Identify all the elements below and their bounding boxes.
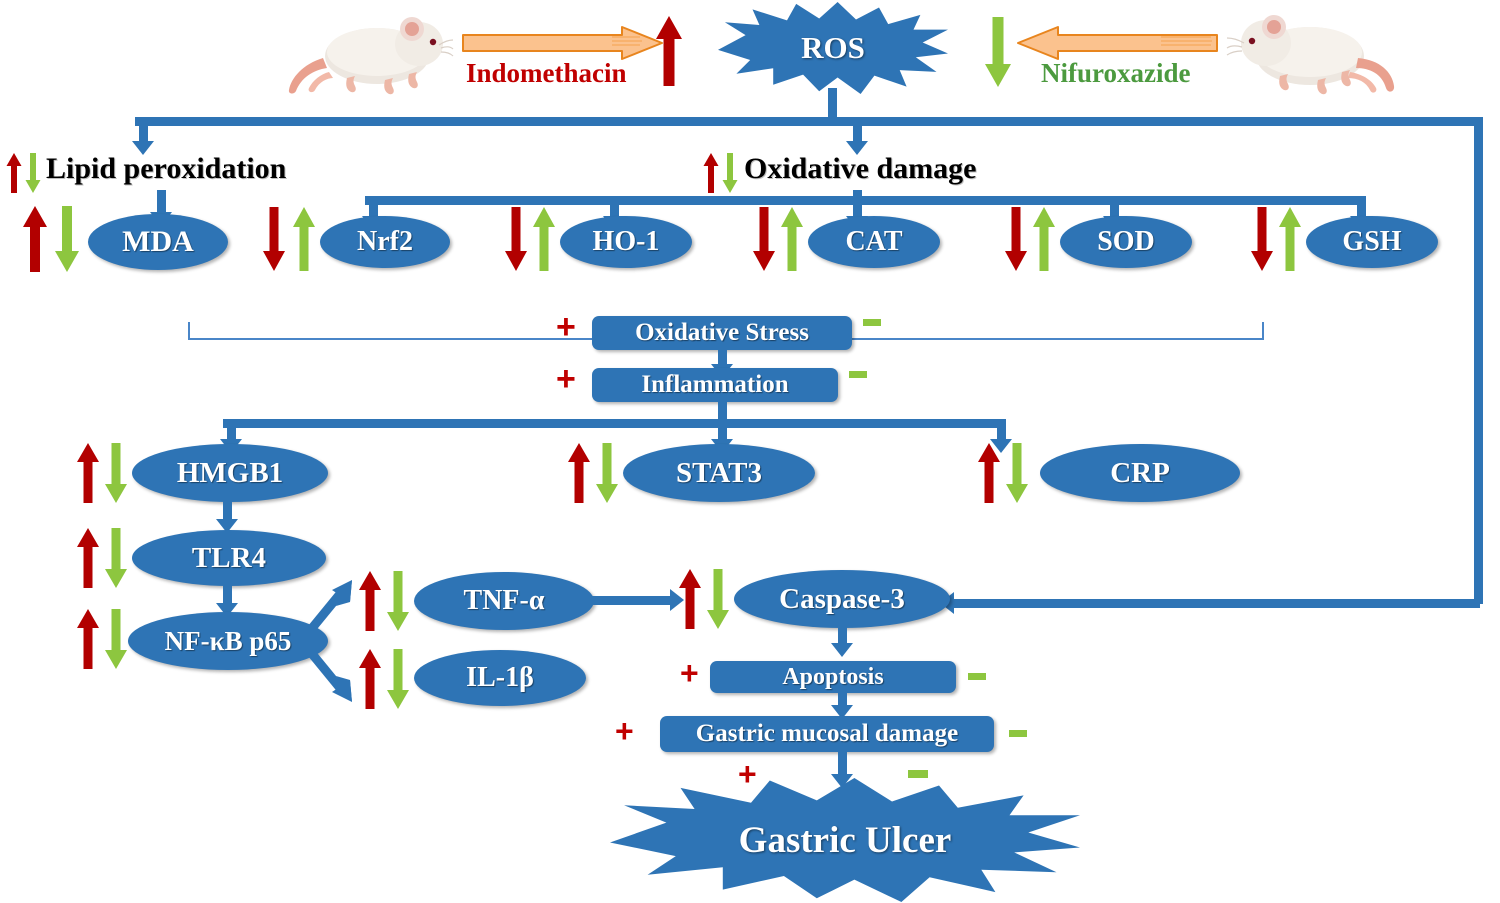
- node-tnf-alpha-label: TNF-α: [464, 585, 545, 617]
- up-arrow-red-tlr4: [76, 527, 100, 589]
- connector-tlr4-to-nfkb: [223, 583, 232, 605]
- connector-drop-cat: [853, 196, 862, 218]
- node-gsh-label: GSH: [1342, 226, 1401, 258]
- node-stat3-label: STAT3: [676, 457, 762, 490]
- indomethacin-label: Indomethacin: [466, 58, 627, 89]
- node-tlr4-label: TLR4: [192, 542, 266, 575]
- node-oxidative-stress: Oxidative Stress: [592, 316, 852, 350]
- connector-nfkb-to-tnfa: [300, 572, 360, 642]
- up-arrow-green-sod: [1032, 206, 1056, 272]
- connector-drop-nrf2: [369, 196, 378, 218]
- down-arrow-green-nifuroxazide: [984, 16, 1012, 88]
- down-arrow-green-crp: [1005, 442, 1029, 504]
- up-arrow-green-ho1: [532, 206, 556, 272]
- connector-drop-hmgb1: [227, 419, 236, 441]
- connector-drop-crp: [997, 419, 1006, 441]
- node-mda: MDA: [88, 214, 228, 270]
- mouse-icon-left: [285, 12, 455, 97]
- down-arrow-green-lipid: [25, 152, 41, 194]
- nifuroxazide-arrow-icon: [1016, 26, 1218, 60]
- connector-drop-gsh: [1357, 196, 1366, 218]
- up-arrow-green-gsh: [1278, 206, 1302, 272]
- down-arrow-red-sod: [1004, 206, 1028, 272]
- node-caspase-3: Caspase-3: [734, 570, 950, 628]
- plus-oxidative-stress: +: [556, 310, 576, 344]
- up-arrow-red-caspase3: [678, 568, 702, 630]
- connector-mediator-bus: [223, 419, 1006, 428]
- node-stat3: STAT3: [623, 444, 815, 502]
- node-cat: CAT: [808, 216, 940, 268]
- connector-hmgb1-to-tlr4: [223, 495, 232, 521]
- minus-apoptosis: [968, 673, 986, 680]
- connector-drop-oxdamage: [853, 117, 862, 143]
- up-arrow-red-stat3: [567, 442, 591, 504]
- node-apoptosis: Apoptosis: [710, 661, 956, 693]
- up-arrow-red-lipid: [6, 152, 22, 194]
- node-inflammation-label: Inflammation: [641, 371, 788, 399]
- down-arrow-green-tnfa: [386, 570, 410, 632]
- node-ros: ROS: [718, 2, 948, 94]
- plus-gastric-ulcer: +: [738, 758, 757, 790]
- node-nrf2: Nrf2: [320, 216, 450, 268]
- node-sod-label: SOD: [1097, 226, 1155, 258]
- nifuroxazide-label: Nifuroxazide: [1041, 58, 1191, 89]
- node-gastric-mucosal-damage-label: Gastric mucosal damage: [696, 720, 958, 748]
- connector-right-riser: [1474, 117, 1483, 604]
- node-mda-label: MDA: [122, 225, 194, 259]
- up-arrow-red-nfkb: [76, 608, 100, 670]
- arrowhead-apoptosis: [831, 643, 853, 657]
- up-arrow-red-il1b: [358, 648, 382, 710]
- connector-lipid-to-mda: [157, 190, 166, 214]
- node-nrf2-label: Nrf2: [357, 226, 413, 258]
- up-arrow-red-mda: [22, 205, 48, 273]
- node-oxidative-stress-label: Oxidative Stress: [635, 319, 809, 347]
- down-arrow-green-tlr4: [104, 527, 128, 589]
- indomethacin-arrow-icon: [462, 26, 664, 60]
- connector-mucosal-to-ulcer: [838, 752, 847, 776]
- down-arrow-green-hmgb1: [104, 442, 128, 504]
- down-arrow-green-caspase3: [706, 568, 730, 630]
- node-gastric-mucosal-damage: Gastric mucosal damage: [660, 716, 994, 752]
- up-arrow-red-indomethacin: [655, 15, 683, 87]
- label-lipid-peroxidation: Lipid peroxidation: [46, 152, 286, 186]
- node-caspase-3-label: Caspase-3: [779, 583, 905, 616]
- node-gastric-ulcer-label: Gastric Ulcer: [739, 819, 952, 862]
- node-apoptosis-label: Apoptosis: [782, 664, 883, 691]
- minus-oxidative-stress: [863, 319, 881, 326]
- label-oxidative-damage: Oxidative damage: [744, 152, 977, 186]
- node-ho1: HO-1: [560, 216, 692, 268]
- node-ho1-label: HO-1: [593, 226, 660, 258]
- connector-drop-lipid: [139, 117, 148, 143]
- node-tlr4: TLR4: [132, 530, 326, 586]
- down-arrow-red-ho1: [504, 206, 528, 272]
- node-il1-beta: IL-1β: [414, 650, 586, 706]
- connector-main-bus: [135, 117, 1483, 126]
- down-arrow-red-gsh: [1250, 206, 1274, 272]
- node-hmgb1-label: HMGB1: [177, 457, 283, 490]
- node-inflammation: Inflammation: [592, 368, 838, 402]
- down-arrow-green-oxdamage: [722, 152, 738, 194]
- up-arrow-red-oxdamage: [703, 152, 719, 194]
- up-arrow-red-tnfa: [358, 570, 382, 632]
- connector-enzyme-bus: [365, 196, 1365, 205]
- connector-drop-ho1: [610, 196, 619, 218]
- up-arrow-green-cat: [780, 206, 804, 272]
- down-arrow-green-il1b: [386, 648, 410, 710]
- connector-tnfa-to-caspase: [590, 596, 672, 605]
- up-arrow-green-nrf2: [292, 206, 316, 272]
- minus-mucosal-damage: [1009, 730, 1027, 737]
- minus-inflammation: [849, 371, 867, 378]
- plus-apoptosis: +: [680, 657, 699, 689]
- pathway-diagram: Indomethacin ROS Nifuroxazide: [0, 0, 1500, 903]
- connector-drop-stat3: [718, 419, 727, 441]
- connector-right-to-caspase: [952, 599, 1480, 608]
- node-sod: SOD: [1060, 216, 1192, 268]
- down-arrow-green-nfkb: [104, 608, 128, 670]
- node-crp-label: CRP: [1110, 457, 1170, 490]
- mouse-icon-right: [1222, 10, 1397, 98]
- node-hmgb1: HMGB1: [132, 444, 328, 502]
- node-gsh: GSH: [1306, 216, 1438, 268]
- plus-mucosal-damage: +: [615, 715, 634, 747]
- node-nfkb-p65: NF-κB p65: [128, 612, 328, 670]
- down-arrow-red-nrf2: [262, 206, 286, 272]
- node-nfkb-p65-label: NF-κB p65: [165, 626, 292, 657]
- down-arrow-green-stat3: [595, 442, 619, 504]
- node-crp: CRP: [1040, 444, 1240, 502]
- down-arrow-green-mda: [54, 205, 80, 273]
- connector-drop-sod: [1110, 196, 1119, 218]
- node-gastric-ulcer: Gastric Ulcer: [610, 778, 1080, 902]
- up-arrow-red-crp: [977, 442, 1001, 504]
- plus-inflammation: +: [556, 362, 576, 396]
- node-tnf-alpha: TNF-α: [414, 572, 594, 630]
- minus-gastric-ulcer: [908, 770, 928, 778]
- node-cat-label: CAT: [845, 226, 902, 258]
- node-ros-label: ROS: [801, 30, 865, 66]
- node-il1-beta-label: IL-1β: [466, 662, 534, 694]
- down-arrow-red-cat: [752, 206, 776, 272]
- up-arrow-red-hmgb1: [76, 442, 100, 504]
- connector-nfkb-to-il1b: [300, 640, 360, 710]
